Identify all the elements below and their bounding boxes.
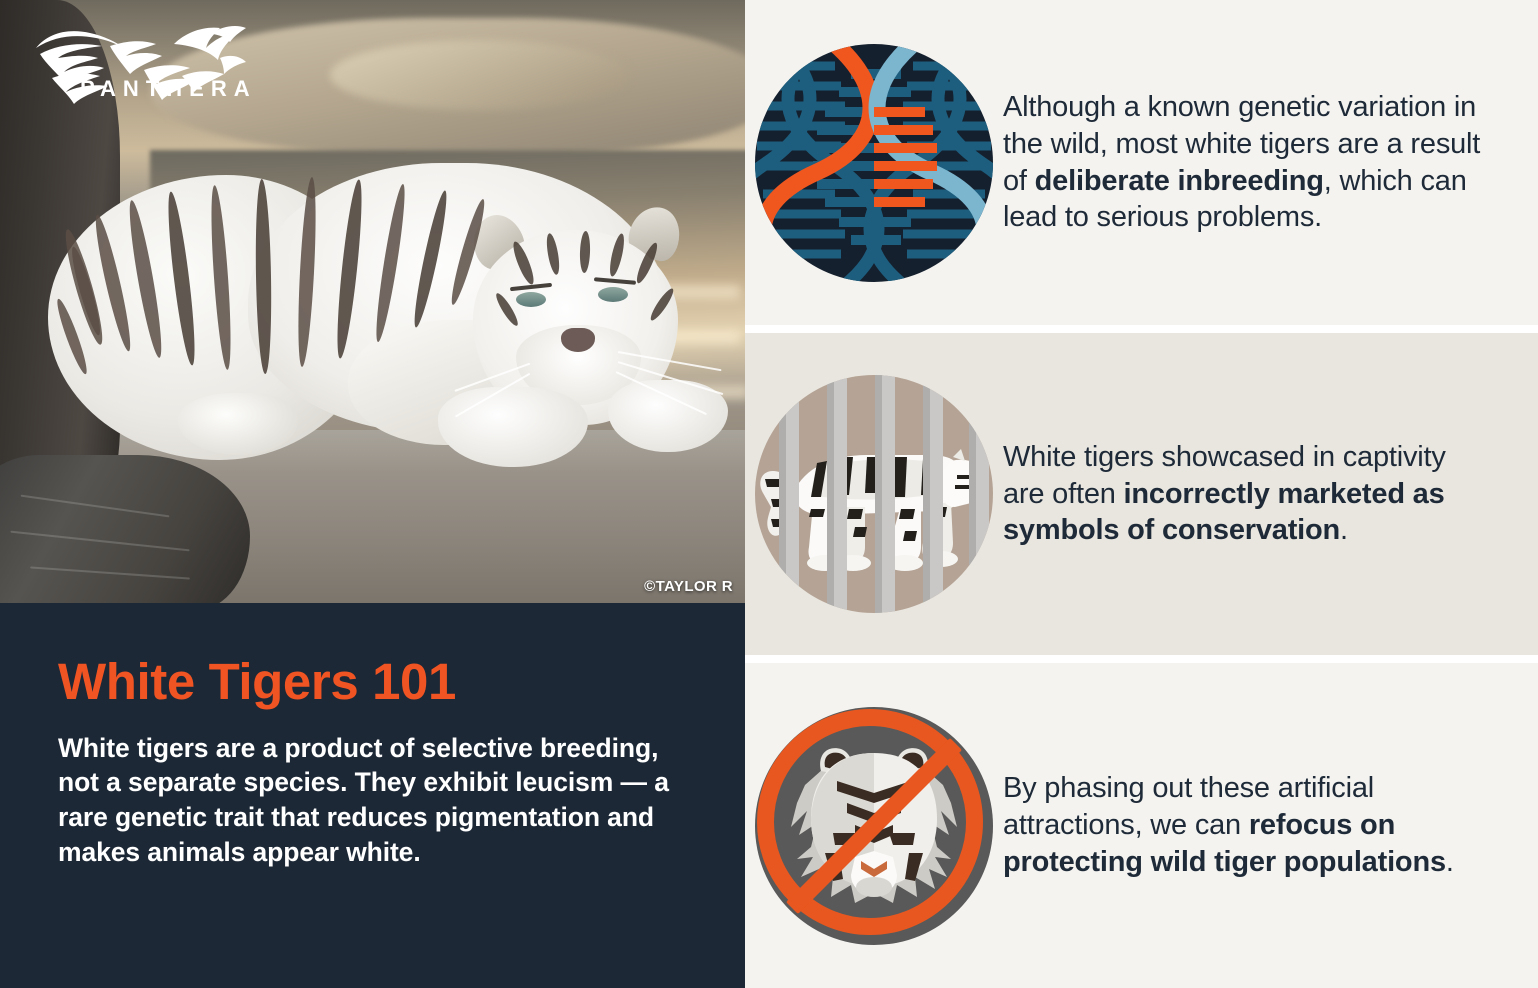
left-column: PANTHERA ©TAYLOR R White Tigers 101 Whit… (0, 0, 745, 988)
tiger-eye-right (598, 287, 628, 302)
panel-genetics-text: Although a known genetic variation in th… (1003, 89, 1538, 236)
panel-captivity: White tigers showcased in captivity are … (745, 333, 1538, 655)
panel-phase-out: By phasing out these artificial attracti… (745, 663, 1538, 988)
panel-phase-out-icon-wrap (745, 707, 1003, 945)
cage-bar (779, 375, 799, 613)
panel-captivity-icon-wrap (745, 375, 1003, 613)
tiger-front-paw-a (438, 387, 588, 467)
dna-helix-icon (755, 44, 993, 282)
panthera-wordmark: PANTHERA (80, 76, 257, 102)
infographic-root: PANTHERA ©TAYLOR R White Tigers 101 Whit… (0, 0, 1538, 988)
dna-helix-graphic (755, 44, 993, 282)
tiger-photograph: PANTHERA ©TAYLOR R (0, 0, 745, 603)
cage-bar (875, 375, 895, 613)
page-title: White Tigers 101 (58, 655, 687, 709)
intro-paragraph: White tigers are a product of selective … (58, 731, 687, 870)
caged-tiger-icon (755, 375, 993, 613)
photo-background-rock-secondary (330, 40, 630, 110)
right-column: Although a known genetic variation in th… (745, 0, 1538, 988)
cage-bar (827, 375, 847, 613)
cage-bar (969, 375, 989, 613)
panthera-logo[interactable]: PANTHERA (24, 18, 254, 114)
white-tiger-subject (18, 135, 718, 495)
tiger-eye-left (516, 292, 546, 307)
no-tiger-prohibition-icon (755, 707, 993, 945)
left-text-block: White Tigers 101 White tigers are a prod… (0, 603, 745, 988)
panel-phase-out-text: By phasing out these artificial attracti… (1003, 770, 1538, 880)
panel-genetics: Although a known genetic variation in th… (745, 0, 1538, 325)
cage-bar (923, 375, 943, 613)
photo-credit: ©TAYLOR R (644, 578, 733, 595)
panel-captivity-text: White tigers showcased in captivity are … (1003, 439, 1538, 549)
panel-genetics-icon-wrap (745, 44, 1003, 282)
